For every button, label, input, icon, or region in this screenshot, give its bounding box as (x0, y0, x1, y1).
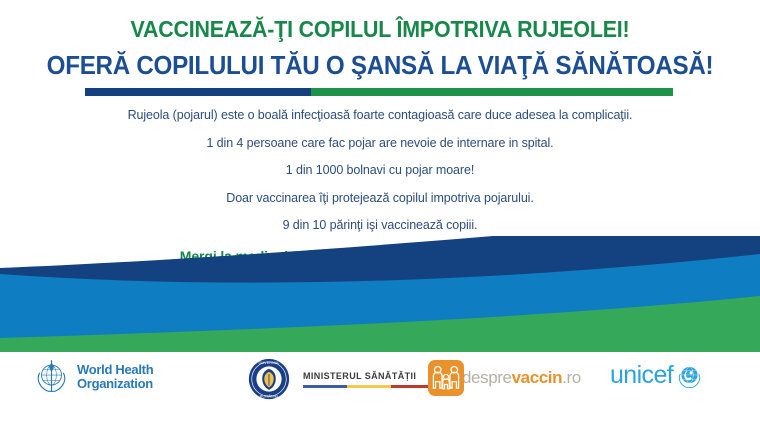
logo-world-health-organization[interactable]: World Health Organization (33, 358, 153, 395)
romanian-government-seal-icon: GUVERNUL ROMÂNIEI (248, 358, 290, 400)
romanian-tricolor-rule (303, 385, 435, 388)
divider-bar (85, 88, 673, 96)
logo-desprevaccin-ro[interactable]: desprevaccin.ro (428, 360, 581, 396)
logo-unicef[interactable]: unicef (610, 362, 703, 389)
who-wordmark-line2: Organization (77, 377, 153, 391)
divider-segment-green (311, 88, 673, 96)
headline-secondary: OFERĂ COPILULUI TĂU O ŞANSĂ LA VIAŢĂ SĂN… (27, 51, 734, 81)
headline-primary: VACCINEAZĂ-ŢI COPILUL ÎMPOTRIVA RUJEOLEI… (27, 16, 734, 42)
body-line: 1 din 4 persoane care fac pojar are nevo… (0, 128, 760, 156)
who-emblem-icon (33, 358, 70, 395)
desprevaccin-vaccin: vaccin (512, 368, 563, 387)
desprevaccin-despre: despre (462, 368, 512, 387)
vaccination-awareness-poster: VACCINEAZĂ-ŢI COPILUL ÎMPOTRIVA RUJEOLEI… (0, 0, 760, 426)
ministry-name: MINISTERUL SĂNĂTĂȚII (303, 371, 435, 381)
body-line: 1 din 1000 bolnavi cu pojar moare! (0, 155, 760, 183)
family-group-icon (428, 360, 464, 396)
desprevaccin-tld: .ro (562, 368, 581, 387)
body-line: Rujeola (pojarul) este o boală infecţioa… (0, 104, 760, 128)
headline-block: VACCINEAZĂ-ŢI COPILUL ÎMPOTRIVA RUJEOLEI… (0, 16, 760, 81)
divider-segment-navy (85, 88, 311, 96)
tricolor-yellow (347, 385, 391, 388)
logo-strip: World Health Organization GUVERNUL ROMÂN… (0, 352, 760, 426)
svg-text:GUVERNUL: GUVERNUL (259, 361, 280, 365)
tricolor-blue (303, 385, 347, 388)
decorative-wave-graphic (0, 236, 760, 366)
who-wordmark: World Health Organization (77, 363, 153, 390)
unicef-wordmark: unicef (610, 363, 673, 388)
who-wordmark-line1: World Health (77, 362, 153, 377)
body-line: Doar vaccinarea îţi protejează copilul i… (0, 183, 760, 211)
desprevaccin-wordmark: desprevaccin.ro (462, 360, 581, 396)
svg-text:ROMÂNIEI: ROMÂNIEI (260, 394, 279, 398)
unicef-emblem-icon (676, 362, 703, 389)
ministry-name-block: MINISTERUL SĂNĂTĂȚII (303, 371, 435, 388)
logo-ministerul-sanatatii[interactable]: GUVERNUL ROMÂNIEI MINISTERUL SĂNĂTĂȚII (248, 358, 435, 400)
body-line: 9 din 10 părinţi işi vaccinează copiii. (0, 210, 760, 238)
